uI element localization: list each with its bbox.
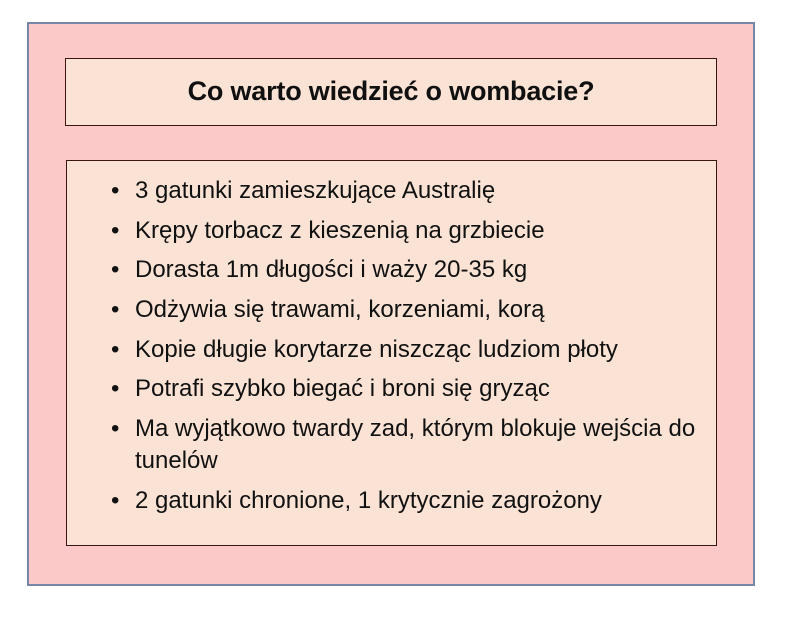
list-item-label: Potrafi szybko biegać i broni się gryząc [135, 373, 706, 406]
list-item: • Krępy torbacz z kieszenią na grzbiecie [77, 215, 706, 248]
slide-frame: Co warto wiedzieć o wombacie? • 3 gatunk… [27, 22, 755, 586]
bullet-point-icon: • [111, 485, 119, 518]
list-item: • Potrafi szybko biegać i broni się gryz… [77, 373, 706, 406]
list-item-label: 2 gatunki chronione, 1 krytycznie zagroż… [135, 485, 706, 518]
page-title: Co warto wiedzieć o wombacie? [188, 77, 595, 107]
title-box: Co warto wiedzieć o wombacie? [65, 58, 717, 126]
list-item: • Ma wyjątkowo twardy zad, którym blokuj… [77, 413, 706, 478]
bullet-point-icon: • [111, 175, 119, 208]
list-item-label: Dorasta 1m długości i waży 20-35 kg [135, 254, 706, 287]
list-item-label: Kopie długie korytarze niszcząc ludziom … [135, 334, 706, 367]
bullet-point-icon: • [111, 373, 119, 406]
list-item: • Dorasta 1m długości i waży 20-35 kg [77, 254, 706, 287]
list-item-label: Odżywia się trawami, korzeniami, korą [135, 294, 706, 327]
bullet-point-icon: • [111, 294, 119, 327]
bullet-point-icon: • [111, 215, 119, 248]
list-item: • 3 gatunki zamieszkujące Australię [77, 175, 706, 208]
list-item: • Odżywia się trawami, korzeniami, korą [77, 294, 706, 327]
bullet-point-icon: • [111, 254, 119, 287]
list-item-label: Ma wyjątkowo twardy zad, którym blokuje … [135, 413, 706, 478]
list-item: • Kopie długie korytarze niszcząc ludzio… [77, 334, 706, 367]
list-item-label: 3 gatunki zamieszkujące Australię [135, 175, 706, 208]
list-item: • 2 gatunki chronione, 1 krytycznie zagr… [77, 485, 706, 518]
list-item-label: Krępy torbacz z kieszenią na grzbiecie [135, 215, 706, 248]
bullet-point-icon: • [111, 334, 119, 367]
content-box: • 3 gatunki zamieszkujące Australię • Kr… [66, 160, 717, 546]
bullet-point-icon: • [111, 413, 119, 446]
fact-bullet-list: • 3 gatunki zamieszkujące Australię • Kr… [77, 175, 706, 518]
